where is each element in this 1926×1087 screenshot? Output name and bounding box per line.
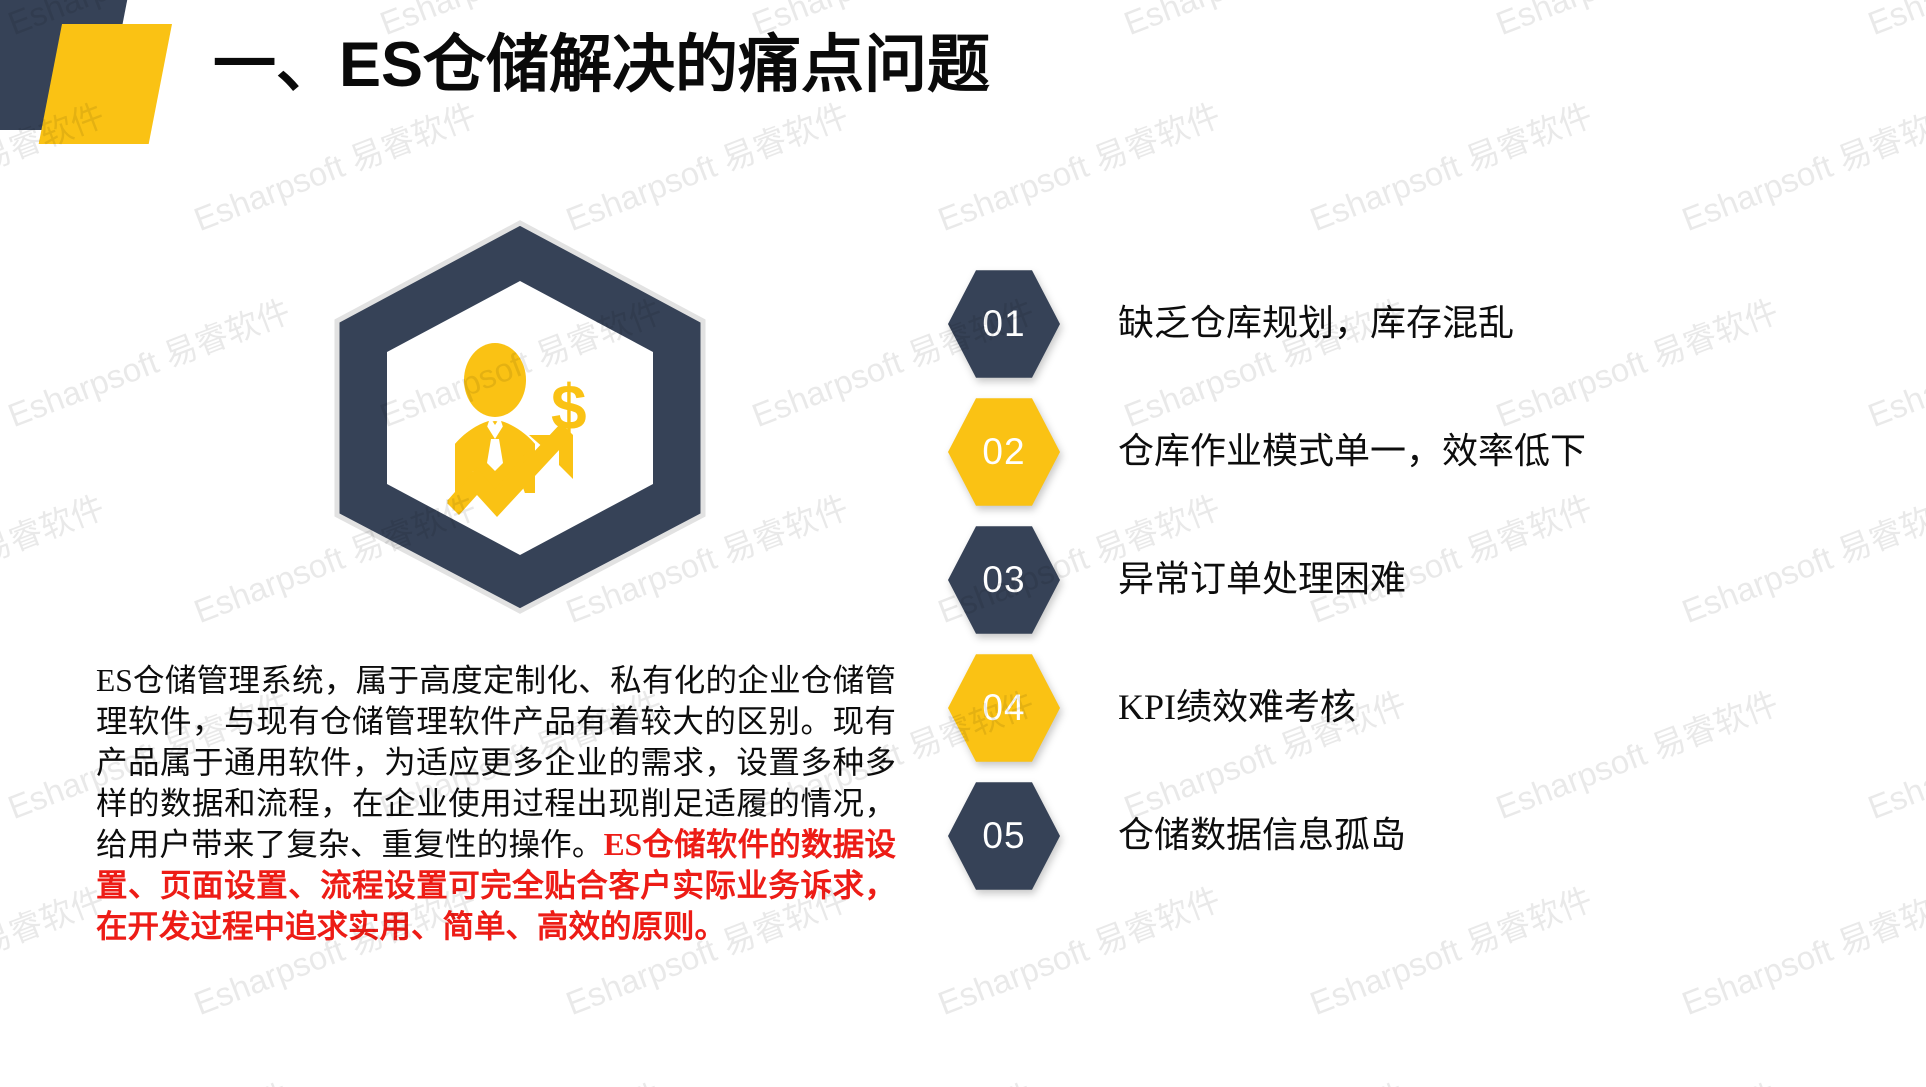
watermark-text: Esharpsoft 易睿软件	[0, 1069, 296, 1087]
watermark-text: Esharpsoft 易睿软件	[1860, 1069, 1926, 1087]
hexagon-badge-05: 05	[948, 780, 1060, 892]
list-item-number: 02	[982, 431, 1025, 473]
pain-point-list: 01 缺乏仓库规划，库存混乱 02 仓库作业模式单一，效率低下 03 异常订单处…	[948, 260, 1848, 900]
watermark-text: Esharpsoft 易睿软件	[1674, 89, 1926, 241]
watermark-text: Esharpsoft 易睿软件	[0, 285, 296, 437]
list-item-label: KPI绩效难考核	[1118, 688, 1356, 728]
list-item-label: 仓储数据信息孤岛	[1118, 816, 1406, 856]
list-item[interactable]: 02 仓库作业模式单一，效率低下	[948, 388, 1848, 516]
watermark-text: Esharpsoft 易睿软件	[1116, 0, 1412, 45]
list-item[interactable]: 01 缺乏仓库规划，库存混乱	[948, 260, 1848, 388]
watermark-text: Esharpsoft 易睿软件	[1488, 1069, 1784, 1087]
list-item[interactable]: 03 异常订单处理困难	[948, 516, 1848, 644]
watermark-text: Esharpsoft 易睿软件	[930, 89, 1226, 241]
watermark-text: Esharpsoft 易睿软件	[372, 1069, 668, 1087]
list-item-label: 异常订单处理困难	[1118, 560, 1406, 600]
hexagon-emblem: $	[325, 215, 715, 615]
watermark-text: Esharpsoft 易睿软件	[744, 1069, 1040, 1087]
hexagon-frame-icon	[337, 223, 703, 611]
list-item[interactable]: 04 KPI绩效难考核	[948, 644, 1848, 772]
list-item-label: 仓库作业模式单一，效率低下	[1118, 432, 1586, 472]
yellow-parallelogram-icon	[39, 24, 172, 144]
hexagon-badge-04: 04	[948, 652, 1060, 764]
list-item-label: 缺乏仓库规划，库存混乱	[1118, 304, 1514, 344]
slide-canvas: 一、ES仓储解决的痛点问题 $	[0, 0, 1926, 1087]
list-item-number: 03	[982, 559, 1025, 601]
watermark-text: Esharpsoft 易睿软件	[0, 481, 110, 633]
list-item-number: 01	[982, 303, 1025, 345]
watermark-text: Esharpsoft 易睿软件	[0, 873, 110, 1025]
page-title: 一、ES仓储解决的痛点问题	[213, 31, 990, 99]
hexagon-badge-02: 02	[948, 396, 1060, 508]
hexagon-badge-03: 03	[948, 524, 1060, 636]
watermark-text: Esharpsoft 易睿软件	[1488, 0, 1784, 45]
watermark-text: Esharpsoft 易睿软件	[1302, 89, 1598, 241]
watermark-text: Esharpsoft 易睿软件	[1860, 0, 1926, 45]
watermark-text: Esharpsoft 易睿软件	[1116, 1069, 1412, 1087]
list-item-number: 04	[982, 687, 1025, 729]
list-item[interactable]: 05 仓储数据信息孤岛	[948, 772, 1848, 900]
description-paragraph: ES仓储管理系统，属于高度定制化、私有化的企业仓储管理软件，与现有仓储管理软件产…	[96, 660, 896, 947]
watermark-text: Esharpsoft 易睿软件	[1860, 285, 1926, 437]
watermark-text: Esharpsoft 易睿软件	[1860, 677, 1926, 829]
list-item-number: 05	[982, 815, 1025, 857]
hexagon-badge-01: 01	[948, 268, 1060, 380]
